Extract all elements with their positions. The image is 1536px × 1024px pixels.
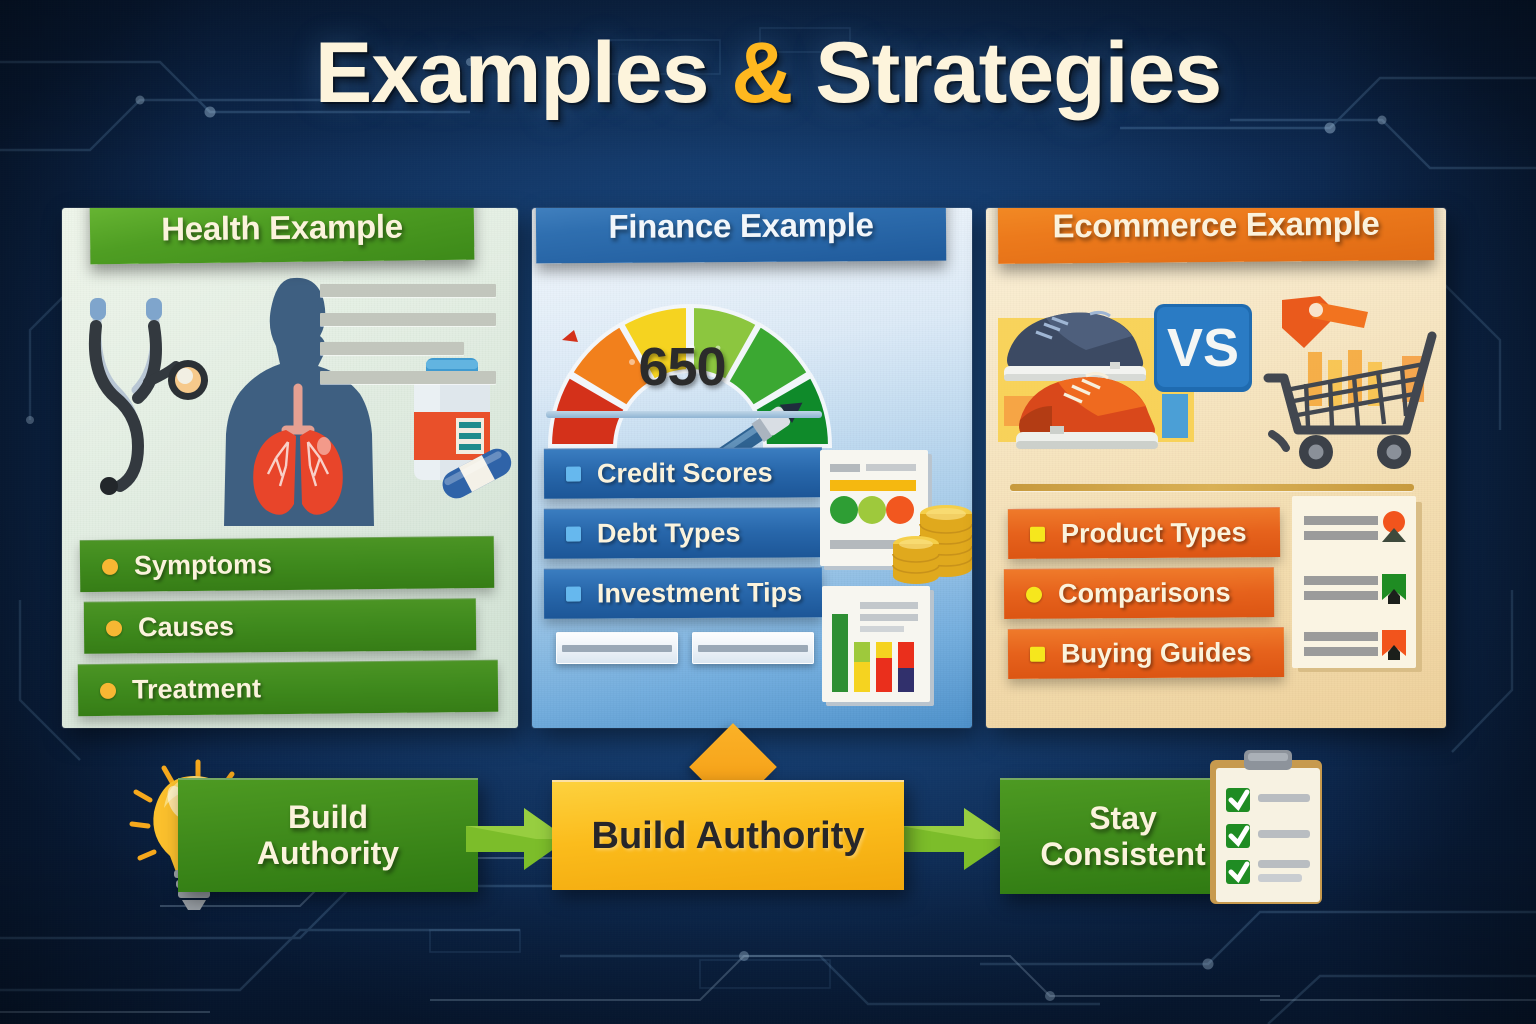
ecommerce-illustration: VS (986, 266, 1446, 478)
circle-bullet (102, 558, 118, 574)
list-item-label: Investment Tips (597, 577, 802, 609)
strategy-label-line2: Consistent (1040, 837, 1205, 873)
circle-bullet (1026, 586, 1042, 602)
list-item-label: Symptoms (134, 549, 272, 581)
gauge-score-value: 650 (532, 336, 832, 398)
square-bullet (566, 467, 581, 482)
panel-header-finance: Finance Example (536, 208, 947, 263)
list-item-label: Treatment (132, 673, 261, 705)
text-line (320, 284, 496, 297)
list-item-label: Product Types (1061, 517, 1247, 549)
strategy-label-line2: Authority (257, 836, 399, 872)
panel-ecommerce-example[interactable]: VS Product Types Comparisons (986, 208, 1446, 728)
health-text-lines (320, 284, 496, 400)
panel-header-label: Finance Example (608, 208, 873, 246)
list-item-label: Credit Scores (597, 458, 773, 490)
panel-header-ecommerce: Ecommerce Example (998, 208, 1435, 264)
panel-health-example[interactable]: Symptoms Causes Treatment Health Example (62, 208, 518, 728)
panel-header-health: Health Example (90, 208, 475, 264)
shopping-cart-icon (1268, 336, 1432, 469)
list-item-health-0[interactable]: Symptoms (80, 536, 495, 592)
list-item-label: Comparisons (1058, 577, 1231, 609)
square-bullet (566, 527, 581, 542)
section-divider (1010, 484, 1414, 491)
price-tag-icon (1282, 296, 1368, 348)
text-line (320, 342, 464, 355)
list-item-health-1[interactable]: Causes (84, 598, 476, 653)
bar-chart-document-icon (820, 584, 942, 712)
list-item-finance-0[interactable]: Credit Scores (544, 447, 822, 498)
gold-coins-icon (892, 496, 972, 594)
mini-card (692, 632, 814, 664)
list-item-label: Debt Types (597, 518, 741, 550)
text-line (320, 371, 496, 384)
page-title-part2: Strategies (792, 25, 1221, 121)
list-item-finance-1[interactable]: Debt Types (544, 507, 822, 558)
strategy-label: Build Authority (592, 815, 865, 858)
gauge-baseline (546, 411, 822, 418)
stethoscope-icon (90, 298, 208, 495)
list-item-finance-2[interactable]: Investment Tips (544, 567, 822, 618)
list-item-label: Buying Guides (1061, 637, 1252, 669)
clipboard-checklist-icon (1204, 748, 1328, 908)
text-line (320, 313, 496, 326)
list-document-icon (1290, 496, 1426, 674)
square-bullet (1030, 647, 1045, 662)
circle-bullet (106, 620, 122, 636)
strategy-step-build-authority-left[interactable]: Build Authority (178, 778, 478, 892)
vs-label: VS (1167, 318, 1239, 378)
square-bullet (566, 587, 581, 602)
panel-header-label: Health Example (161, 208, 403, 248)
list-item-ecommerce-2[interactable]: Buying Guides (1008, 627, 1284, 679)
list-item-label: Causes (138, 611, 234, 643)
panel-finance-example[interactable]: 650 Credit Scores Debt Types Investment … (532, 208, 972, 728)
page-title-ampersand: & (731, 25, 792, 121)
arrow-right-icon (900, 806, 1012, 872)
square-bullet (1030, 527, 1045, 542)
strategy-flow: Build Authority Build Authority Stay Con… (0, 740, 1536, 930)
circle-bullet (100, 682, 116, 698)
list-item-health-2[interactable]: Treatment (78, 660, 499, 716)
page-title-part1: Examples (315, 25, 731, 121)
vs-sign-icon: VS (1154, 304, 1252, 438)
mini-card (556, 632, 678, 664)
strategy-step-build-authority-center[interactable]: Build Authority (552, 780, 904, 890)
strategy-label-line1: Build (257, 800, 399, 836)
list-item-ecommerce-1[interactable]: Comparisons (1004, 567, 1274, 619)
list-item-ecommerce-0[interactable]: Product Types (1008, 507, 1280, 559)
page-title: Examples & Strategies (0, 24, 1536, 123)
panel-header-label: Ecommerce Example (1052, 208, 1379, 245)
strategy-label-line1: Stay (1040, 801, 1205, 837)
